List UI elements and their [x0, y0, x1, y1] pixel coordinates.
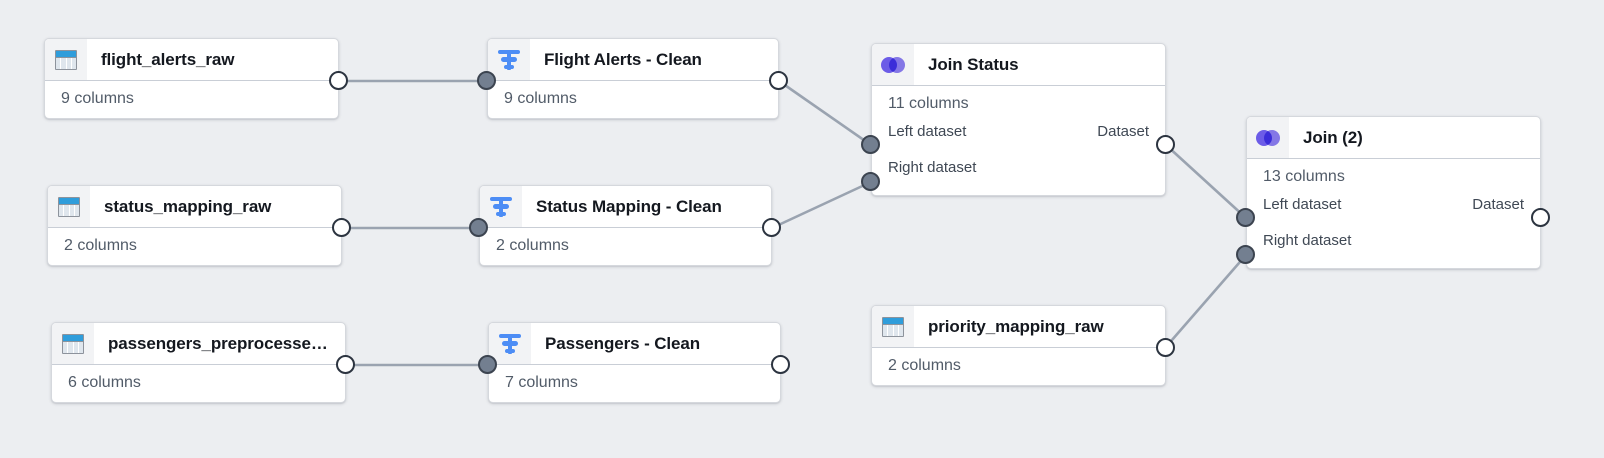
edge-flight-clean-to-join [779, 81, 871, 145]
port-in-join-2-right[interactable] [1236, 245, 1255, 264]
node-status-mapping-clean[interactable]: Status Mapping - Clean 2 columns [479, 185, 772, 266]
port-out-passengers-clean[interactable] [771, 355, 790, 374]
edge-status-clean-to-join [772, 182, 871, 228]
port-out-flight-alerts-clean[interactable] [769, 71, 788, 90]
node-body: 2 columns [480, 228, 771, 265]
column-count: 2 columns [480, 237, 771, 255]
node-header: Join Status [872, 44, 1165, 86]
node-header: flight_alerts_raw [45, 39, 338, 81]
node-body: 13 columns Left dataset Dataset Right da… [1247, 159, 1540, 268]
port-label-left-dataset: Left dataset [1263, 196, 1341, 213]
port-row-right-dataset: Right dataset [872, 149, 1165, 185]
node-title: flight_alerts_raw [87, 50, 246, 70]
port-row-left-dataset: Left dataset Dataset [872, 113, 1165, 149]
node-header: passengers_preprocesse… [52, 323, 345, 365]
node-header: status_mapping_raw [48, 186, 341, 228]
node-header: priority_mapping_raw [872, 306, 1165, 348]
column-count: 9 columns [488, 90, 778, 108]
node-body: 6 columns [52, 365, 345, 402]
column-count: 2 columns [48, 237, 341, 255]
port-row-right-dataset: Right dataset [1247, 222, 1540, 258]
column-count: 6 columns [52, 374, 345, 392]
edge-priority-raw-to-join2 [1165, 255, 1246, 348]
node-body: 9 columns [488, 81, 778, 118]
node-body: 9 columns [45, 81, 338, 118]
port-in-passengers-clean[interactable] [478, 355, 497, 374]
node-flight-alerts-clean[interactable]: Flight Alerts - Clean 9 columns [487, 38, 779, 119]
node-join-2[interactable]: Join (2) 13 columns Left dataset Dataset… [1246, 116, 1541, 269]
column-count: 9 columns [45, 90, 338, 108]
port-out-flight-alerts-raw[interactable] [329, 71, 348, 90]
node-passengers-preprocessed[interactable]: passengers_preprocesse… 6 columns [51, 322, 346, 403]
node-title: passengers_preprocesse… [94, 334, 340, 354]
port-label-right-dataset: Right dataset [1263, 232, 1351, 249]
node-flight-alerts-raw[interactable]: flight_alerts_raw 9 columns [44, 38, 339, 119]
node-priority-mapping-raw[interactable]: priority_mapping_raw 2 columns [871, 305, 1166, 386]
clean-icon [480, 186, 522, 227]
node-status-mapping-raw[interactable]: status_mapping_raw 2 columns [47, 185, 342, 266]
node-header: Passengers - Clean [489, 323, 780, 365]
port-in-join-status-right[interactable] [861, 172, 880, 191]
node-body: 7 columns [489, 365, 780, 402]
clean-icon [489, 323, 531, 364]
join-icon [1247, 117, 1289, 158]
port-in-join-status-left[interactable] [861, 135, 880, 154]
column-count: 2 columns [872, 357, 1165, 375]
port-out-join-2-dataset[interactable] [1531, 208, 1550, 227]
node-title: Status Mapping - Clean [522, 197, 734, 217]
port-label-output-dataset: Dataset [1097, 123, 1149, 140]
port-label-left-dataset: Left dataset [888, 123, 966, 140]
node-title: priority_mapping_raw [914, 317, 1116, 337]
column-count: 7 columns [489, 374, 780, 392]
table-icon [48, 186, 90, 227]
node-title: Join (2) [1289, 128, 1375, 148]
column-count: 13 columns [1247, 168, 1540, 186]
node-header: Join (2) [1247, 117, 1540, 159]
table-icon [52, 323, 94, 364]
port-label-right-dataset: Right dataset [888, 159, 976, 176]
port-label-output-dataset: Dataset [1472, 196, 1524, 213]
port-in-flight-alerts-clean[interactable] [477, 71, 496, 90]
node-header: Status Mapping - Clean [480, 186, 771, 228]
node-title: status_mapping_raw [90, 197, 283, 217]
node-title: Flight Alerts - Clean [530, 50, 714, 70]
node-title: Passengers - Clean [531, 334, 712, 354]
port-row-left-dataset: Left dataset Dataset [1247, 186, 1540, 222]
node-join-status[interactable]: Join Status 11 columns Left dataset Data… [871, 43, 1166, 196]
flow-canvas[interactable]: flight_alerts_raw 9 columns Flight Alert… [0, 0, 1604, 458]
node-title: Join Status [914, 55, 1031, 75]
join-icon [872, 44, 914, 85]
port-out-priority-mapping-raw[interactable] [1156, 338, 1175, 357]
edge-join-status-to-join2 [1166, 145, 1246, 218]
port-out-join-status-dataset[interactable] [1156, 135, 1175, 154]
table-icon [872, 306, 914, 347]
port-in-status-mapping-clean[interactable] [469, 218, 488, 237]
node-body: 2 columns [872, 348, 1165, 385]
node-body: 2 columns [48, 228, 341, 265]
port-out-passengers-preprocessed[interactable] [336, 355, 355, 374]
node-body: 11 columns Left dataset Dataset Right da… [872, 86, 1165, 195]
port-out-status-mapping-raw[interactable] [332, 218, 351, 237]
clean-icon [488, 39, 530, 80]
port-in-join-2-left[interactable] [1236, 208, 1255, 227]
node-header: Flight Alerts - Clean [488, 39, 778, 81]
node-passengers-clean[interactable]: Passengers - Clean 7 columns [488, 322, 781, 403]
table-icon [45, 39, 87, 80]
port-out-status-mapping-clean[interactable] [762, 218, 781, 237]
column-count: 11 columns [872, 95, 1165, 113]
